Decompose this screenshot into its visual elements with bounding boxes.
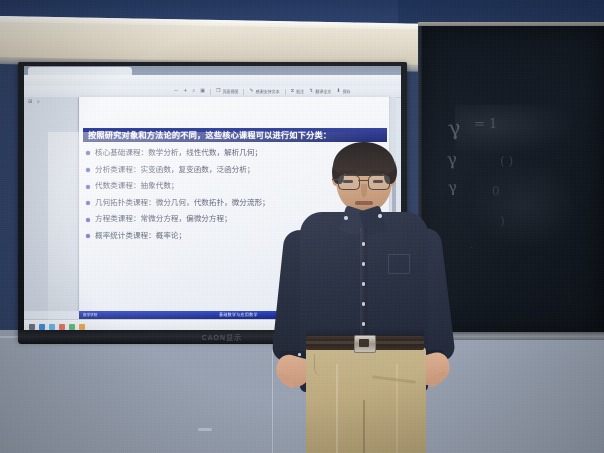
bullet-icon: [86, 234, 90, 238]
pdf-tool-annotate-label: 感谢支持文本: [256, 89, 280, 95]
download-icon: ⬇: [336, 89, 340, 94]
taskbar-icon[interactable]: [79, 324, 85, 330]
plus-icon: +: [183, 89, 187, 94]
list-item-label: 方程类课程：常微分方程，偏微分方程；: [95, 214, 232, 223]
taskbar-icon[interactable]: [29, 324, 35, 330]
list-item-label: 概率统计类课程：概率论；: [95, 231, 186, 240]
shirt-button: [362, 242, 366, 246]
pdf-tool-search[interactable]: ⌕: [192, 89, 195, 94]
pdf-toolbar-items: − + ⌕ ▣ ❐ 页面视图 ✎ 感谢支持文本 ⧖: [174, 88, 351, 96]
browser-titlebar: [24, 66, 401, 75]
search-icon: ⌕: [192, 89, 195, 94]
chalk-mark: γ: [447, 117, 462, 139]
wall-scuff-mark: [198, 428, 212, 431]
bullet-icon: [86, 168, 90, 172]
pdf-tool-layout[interactable]: ▣: [200, 89, 205, 94]
list-item-label: 分析类课程：实变函数，复变函数，泛函分析；: [95, 165, 254, 174]
pdf-tool-save-label: 保存: [343, 89, 351, 95]
glasses-temple-arm: [332, 179, 339, 180]
list-item-label: 代数类课程：抽象代数；: [95, 181, 179, 190]
toolbar-divider: [210, 89, 211, 95]
taskbar-icon[interactable]: [69, 324, 75, 330]
pdf-tool-comment-label: 批注: [296, 89, 304, 95]
left-cuff-button: [298, 353, 301, 356]
pdf-tool-zoom-out[interactable]: −: [174, 89, 178, 94]
shoulder-button-left: [344, 216, 348, 220]
taskbar-icon[interactable]: [59, 324, 65, 330]
pdf-tool-page-view-label: 页面视图: [222, 89, 238, 95]
sidebar-thumbnails-icon[interactable]: ⊞: [28, 99, 32, 105]
slide-footer-left: 数学学院: [83, 313, 97, 318]
minus-icon: −: [174, 89, 178, 94]
bullet-icon: [86, 201, 90, 205]
shirt-pocket: [388, 254, 410, 274]
glasses-left-lens: [338, 175, 360, 190]
layout-icon: ▣: [200, 89, 205, 94]
pdf-tool-translate[interactable]: ↯ 翻译全文: [309, 89, 331, 95]
pdf-tool-page-view[interactable]: ❐ 页面视图: [216, 89, 238, 95]
glasses-bridge: [358, 180, 368, 181]
pdf-tool-translate-label: 翻译全文: [315, 89, 331, 95]
pdf-tool-comment[interactable]: ⧖ 批注: [291, 89, 305, 95]
list-item-label: 核心基础课程：数学分析，线性代数，解析几何；: [95, 148, 262, 157]
shoulder-button-right: [378, 214, 382, 218]
toolbar-divider: [285, 89, 286, 95]
belt-buckle-inner: [359, 339, 369, 347]
list-item-label: 几何拓扑类课程：微分几何，代数拓扑，微分流形；: [95, 198, 270, 207]
toolbar-divider: [243, 89, 244, 95]
shirt-button: [362, 262, 366, 266]
translate-icon: ↯: [309, 89, 313, 94]
glasses-right-lens: [368, 175, 390, 190]
page-view-icon: ❐: [216, 89, 220, 94]
pdf-sidebar[interactable]: [24, 97, 79, 311]
slide-footer-center: 基础数学与应用数学: [219, 312, 258, 318]
shirt-button: [362, 302, 366, 306]
sidebar-search-icon[interactable]: ⌕: [37, 99, 40, 105]
comment-icon: ⧖: [291, 89, 295, 94]
shirt-button: [362, 282, 366, 286]
taskbar-icon[interactable]: [39, 324, 45, 330]
nose: [361, 184, 367, 197]
chalk-mark: = 1: [474, 118, 497, 131]
display-brand-logo: CAON显示: [196, 333, 248, 342]
trouser-inseam: [363, 400, 365, 453]
trouser-pocket: [314, 354, 333, 376]
lecturer: [262, 138, 502, 453]
bullet-icon: [86, 151, 90, 155]
pencil-icon: ✎: [249, 89, 253, 94]
browser-tab[interactable]: [28, 67, 132, 75]
pdf-tool-annotate[interactable]: ✎ 感谢支持文本: [249, 89, 279, 95]
pdf-tool-zoom-in[interactable]: +: [183, 89, 187, 94]
trouser-crease-left: [336, 364, 338, 453]
pdf-tool-save[interactable]: ⬇ 保存: [336, 89, 350, 95]
shirt-button: [362, 322, 366, 326]
classroom-photo: γ γ γ = 1 ( ) 0 ) · ‹ › file:///D:/Cours…: [0, 0, 604, 453]
bullet-icon: [86, 185, 90, 189]
taskbar-icon[interactable]: [49, 324, 55, 330]
bullet-icon: [86, 218, 90, 222]
